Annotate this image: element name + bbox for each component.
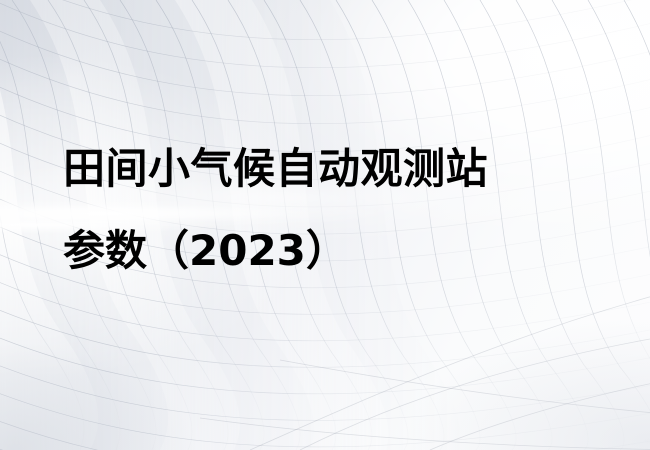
page-title: 田间小气候自动观测站 参数（2023） xyxy=(63,128,623,292)
title-banner: 田间小气候自动观测站 参数（2023） xyxy=(0,0,650,450)
title-line-2: 参数（2023） xyxy=(63,210,623,292)
title-line-1: 田间小气候自动观测站 xyxy=(63,128,623,210)
